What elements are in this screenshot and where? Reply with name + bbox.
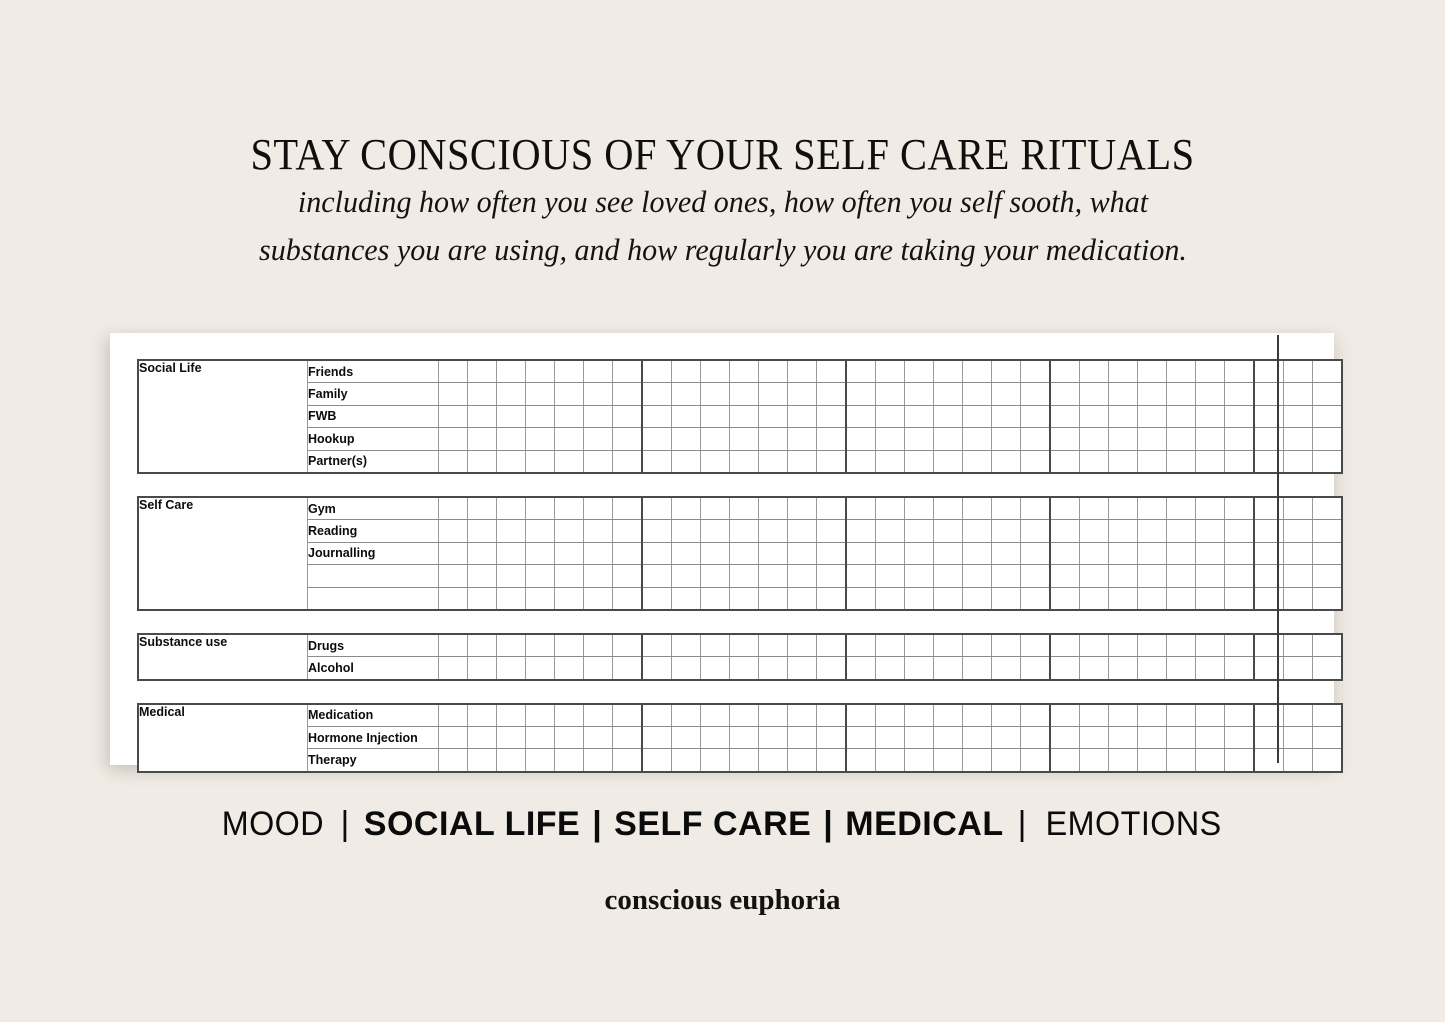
tracker-checkbox-cell[interactable]: [1050, 565, 1080, 587]
tracker-checkbox-cell[interactable]: [1080, 587, 1109, 610]
tracker-checkbox-cell[interactable]: [672, 383, 701, 405]
tracker-checkbox-cell[interactable]: [1196, 749, 1225, 772]
item-label-blank[interactable]: [308, 587, 439, 610]
tracker-checkbox-cell[interactable]: [788, 428, 817, 450]
tracker-checkbox-cell[interactable]: [1196, 657, 1225, 680]
tracker-checkbox-cell[interactable]: [730, 497, 759, 520]
tracker-checkbox-cell[interactable]: [613, 520, 643, 542]
tracker-checkbox-cell[interactable]: [1021, 634, 1051, 657]
tracker-checkbox-cell[interactable]: [1225, 727, 1255, 749]
tracker-checkbox-cell[interactable]: [1109, 657, 1138, 680]
tracker-checkbox-cell[interactable]: [439, 497, 468, 520]
tracker-checkbox-cell[interactable]: [701, 428, 730, 450]
tracker-checkbox-cell[interactable]: [1138, 405, 1167, 427]
tracker-checkbox-cell[interactable]: [963, 405, 992, 427]
tracker-checkbox-cell[interactable]: [846, 565, 876, 587]
tracker-checkbox-cell[interactable]: [759, 634, 788, 657]
tracker-checkbox-cell[interactable]: [876, 657, 905, 680]
tracker-checkbox-cell[interactable]: [642, 704, 672, 727]
tracker-checkbox-cell[interactable]: [992, 565, 1021, 587]
tracker-checkbox-cell[interactable]: [613, 565, 643, 587]
tracker-checkbox-cell[interactable]: [934, 428, 963, 450]
tracker-checkbox-cell[interactable]: [905, 634, 934, 657]
tracker-checkbox-cell[interactable]: [759, 587, 788, 610]
tracker-checkbox-cell[interactable]: [934, 727, 963, 749]
footer-nav-item-medical[interactable]: MEDICAL: [845, 805, 1003, 843]
tracker-checkbox-cell[interactable]: [439, 634, 468, 657]
tracker-checkbox-cell[interactable]: [788, 360, 817, 383]
tracker-checkbox-cell[interactable]: [1167, 565, 1196, 587]
tracker-checkbox-cell[interactable]: [934, 360, 963, 383]
tracker-checkbox-cell[interactable]: [876, 727, 905, 749]
table-row[interactable]: Hookup: [138, 428, 1342, 450]
tracker-checkbox-cell[interactable]: [1284, 383, 1313, 405]
tracker-checkbox-cell[interactable]: [730, 520, 759, 542]
tracker-checkbox-cell[interactable]: [730, 587, 759, 610]
tracker-checkbox-cell[interactable]: [1313, 428, 1343, 450]
tracker-checkbox-cell[interactable]: [701, 520, 730, 542]
tracker-checkbox-cell[interactable]: [817, 405, 847, 427]
tracker-checkbox-cell[interactable]: [1050, 383, 1080, 405]
tracker-checkbox-cell[interactable]: [1225, 405, 1255, 427]
tracker-checkbox-cell[interactable]: [1109, 727, 1138, 749]
tracker-checkbox-cell[interactable]: [1080, 383, 1109, 405]
tracker-checkbox-cell[interactable]: [1138, 428, 1167, 450]
tracker-checkbox-cell[interactable]: [555, 704, 584, 727]
tracker-section-self-care[interactable]: Self CareGymReadingJournalling: [137, 496, 1343, 611]
tracker-checkbox-cell[interactable]: [1080, 405, 1109, 427]
tracker-checkbox-cell[interactable]: [672, 587, 701, 610]
tracker-checkbox-cell[interactable]: [584, 360, 613, 383]
tracker-checkbox-cell[interactable]: [876, 405, 905, 427]
tracker-checkbox-cell[interactable]: [701, 587, 730, 610]
tracker-checkbox-cell[interactable]: [1138, 704, 1167, 727]
tracker-checkbox-cell[interactable]: [963, 634, 992, 657]
tracker-checkbox-cell[interactable]: [1313, 542, 1343, 564]
tracker-checkbox-cell[interactable]: [1167, 383, 1196, 405]
tracker-checkbox-cell[interactable]: [555, 542, 584, 564]
tracker-checkbox-cell[interactable]: [497, 450, 526, 473]
tracker-checkbox-cell[interactable]: [526, 450, 555, 473]
tracker-checkbox-cell[interactable]: [468, 360, 497, 383]
tracker-checkbox-cell[interactable]: [759, 727, 788, 749]
tracker-checkbox-cell[interactable]: [730, 450, 759, 473]
tracker-checkbox-cell[interactable]: [1196, 704, 1225, 727]
tracker-checkbox-cell[interactable]: [468, 657, 497, 680]
tracker-checkbox-cell[interactable]: [963, 727, 992, 749]
tracker-checkbox-cell[interactable]: [526, 727, 555, 749]
tracker-checkbox-cell[interactable]: [1021, 587, 1051, 610]
tracker-checkbox-cell[interactable]: [1225, 704, 1255, 727]
tracker-checkbox-cell[interactable]: [1313, 634, 1343, 657]
tracker-checkbox-cell[interactable]: [1109, 542, 1138, 564]
tracker-checkbox-cell[interactable]: [642, 428, 672, 450]
tracker-checkbox-cell[interactable]: [1138, 450, 1167, 473]
tracker-checkbox-cell[interactable]: [613, 657, 643, 680]
tracker-checkbox-cell[interactable]: [672, 727, 701, 749]
tracker-checkbox-cell[interactable]: [613, 587, 643, 610]
item-label[interactable]: Friends: [308, 360, 439, 383]
tracker-checkbox-cell[interactable]: [905, 383, 934, 405]
tracker-checkbox-cell[interactable]: [1021, 520, 1051, 542]
tracker-checkbox-cell[interactable]: [992, 727, 1021, 749]
tracker-checkbox-cell[interactable]: [1284, 704, 1313, 727]
tracker-checkbox-cell[interactable]: [1196, 428, 1225, 450]
tracker-checkbox-cell[interactable]: [905, 520, 934, 542]
tracker-checkbox-cell[interactable]: [672, 565, 701, 587]
tracker-checkbox-cell[interactable]: [992, 405, 1021, 427]
footer-nav[interactable]: MOOD | SOCIAL LIFE | SELF CARE | MEDICAL…: [0, 805, 1445, 844]
tracker-checkbox-cell[interactable]: [846, 428, 876, 450]
tracker-checkbox-cell[interactable]: [642, 450, 672, 473]
tracker-checkbox-cell[interactable]: [1284, 587, 1313, 610]
tracker-checkbox-cell[interactable]: [613, 634, 643, 657]
tracker-checkbox-cell[interactable]: [555, 383, 584, 405]
tracker-checkbox-cell[interactable]: [672, 542, 701, 564]
tracker-checkbox-cell[interactable]: [701, 634, 730, 657]
tracker-checkbox-cell[interactable]: [701, 727, 730, 749]
item-label[interactable]: Reading: [308, 520, 439, 542]
tracker-checkbox-cell[interactable]: [672, 450, 701, 473]
tracker-checkbox-cell[interactable]: [788, 542, 817, 564]
tracker-checkbox-cell[interactable]: [934, 587, 963, 610]
tracker-checkbox-cell[interactable]: [817, 587, 847, 610]
tracker-checkbox-cell[interactable]: [584, 749, 613, 772]
tracker-checkbox-cell[interactable]: [759, 428, 788, 450]
tracker-checkbox-cell[interactable]: [1225, 520, 1255, 542]
tracker-checkbox-cell[interactable]: [468, 383, 497, 405]
footer-nav-item-emotions[interactable]: EMOTIONS: [1046, 805, 1222, 844]
tracker-checkbox-cell[interactable]: [876, 520, 905, 542]
tracker-checkbox-cell[interactable]: [788, 565, 817, 587]
tracker-checkbox-cell[interactable]: [1021, 704, 1051, 727]
tracker-checkbox-cell[interactable]: [992, 497, 1021, 520]
tracker-checkbox-cell[interactable]: [817, 565, 847, 587]
tracker-checkbox-cell[interactable]: [1225, 749, 1255, 772]
tracker-checkbox-cell[interactable]: [701, 405, 730, 427]
tracker-checkbox-cell[interactable]: [1225, 542, 1255, 564]
tracker-checkbox-cell[interactable]: [1196, 450, 1225, 473]
tracker-checkbox-cell[interactable]: [1021, 360, 1051, 383]
tracker-checkbox-cell[interactable]: [555, 657, 584, 680]
tracker-checkbox-cell[interactable]: [817, 727, 847, 749]
tracker-checkbox-cell[interactable]: [1138, 383, 1167, 405]
tracker-checkbox-cell[interactable]: [526, 405, 555, 427]
tracker-checkbox-cell[interactable]: [584, 565, 613, 587]
tracker-checkbox-cell[interactable]: [584, 727, 613, 749]
table-row[interactable]: FWB: [138, 405, 1342, 427]
tracker-checkbox-cell[interactable]: [1225, 634, 1255, 657]
tracker-checkbox-cell[interactable]: [934, 383, 963, 405]
footer-nav-item-self-care[interactable]: SELF CARE: [614, 805, 811, 843]
tracker-checkbox-cell[interactable]: [642, 657, 672, 680]
tracker-checkbox-cell[interactable]: [1080, 749, 1109, 772]
tracker-checkbox-cell[interactable]: [1225, 657, 1255, 680]
table-row[interactable]: Therapy: [138, 749, 1342, 772]
tracker-checkbox-cell[interactable]: [1021, 428, 1051, 450]
tracker-checkbox-cell[interactable]: [555, 405, 584, 427]
tracker-checkbox-cell[interactable]: [1138, 497, 1167, 520]
tracker-checkbox-cell[interactable]: [992, 704, 1021, 727]
tracker-checkbox-cell[interactable]: [905, 405, 934, 427]
item-label[interactable]: Hormone Injection: [308, 727, 439, 749]
tracker-checkbox-cell[interactable]: [846, 727, 876, 749]
tracker-checkbox-cell[interactable]: [963, 497, 992, 520]
tracker-checkbox-cell[interactable]: [817, 749, 847, 772]
tracker-checkbox-cell[interactable]: [497, 727, 526, 749]
tracker-checkbox-cell[interactable]: [759, 749, 788, 772]
tracker-checkbox-cell[interactable]: [1109, 749, 1138, 772]
tracker-checkbox-cell[interactable]: [1196, 634, 1225, 657]
tracker-checkbox-cell[interactable]: [468, 497, 497, 520]
tracker-checkbox-cell[interactable]: [526, 360, 555, 383]
tracker-checkbox-cell[interactable]: [1254, 383, 1284, 405]
tracker-checkbox-cell[interactable]: [1196, 497, 1225, 520]
tracker-checkbox-cell[interactable]: [876, 749, 905, 772]
tracker-checkbox-cell[interactable]: [701, 749, 730, 772]
tracker-checkbox-cell[interactable]: [788, 383, 817, 405]
tracker-checkbox-cell[interactable]: [1167, 657, 1196, 680]
tracker-checkbox-cell[interactable]: [1196, 383, 1225, 405]
tracker-checkbox-cell[interactable]: [1196, 587, 1225, 610]
item-label[interactable]: Therapy: [308, 749, 439, 772]
tracker-checkbox-cell[interactable]: [759, 520, 788, 542]
tracker-checkbox-cell[interactable]: [876, 428, 905, 450]
tracker-checkbox-cell[interactable]: [1050, 428, 1080, 450]
item-label[interactable]: Medication: [308, 704, 439, 727]
tracker-checkbox-cell[interactable]: [876, 360, 905, 383]
tracker-checkbox-cell[interactable]: [759, 383, 788, 405]
tracker-checkbox-cell[interactable]: [1196, 727, 1225, 749]
tracker-checkbox-cell[interactable]: [1080, 727, 1109, 749]
tracker-checkbox-cell[interactable]: [1167, 360, 1196, 383]
tracker-checkbox-cell[interactable]: [788, 634, 817, 657]
tracker-checkbox-cell[interactable]: [1254, 749, 1284, 772]
tracker-checkbox-cell[interactable]: [672, 428, 701, 450]
tracker-checkbox-cell[interactable]: [1109, 360, 1138, 383]
tracker-checkbox-cell[interactable]: [992, 520, 1021, 542]
tracker-checkbox-cell[interactable]: [439, 727, 468, 749]
tracker-checkbox-cell[interactable]: [497, 405, 526, 427]
tracker-checkbox-cell[interactable]: [1284, 497, 1313, 520]
tracker-checkbox-cell[interactable]: [555, 634, 584, 657]
tracker-checkbox-cell[interactable]: [788, 405, 817, 427]
tracker-checkbox-cell[interactable]: [905, 542, 934, 564]
tracker-checkbox-cell[interactable]: [642, 749, 672, 772]
tracker-checkbox-cell[interactable]: [439, 657, 468, 680]
tracker-checkbox-cell[interactable]: [1167, 587, 1196, 610]
tracker-checkbox-cell[interactable]: [846, 704, 876, 727]
tracker-checkbox-cell[interactable]: [1284, 542, 1313, 564]
tracker-checkbox-cell[interactable]: [613, 360, 643, 383]
tracker-checkbox-cell[interactable]: [1021, 657, 1051, 680]
table-row[interactable]: MedicalMedication: [138, 704, 1342, 727]
tracker-checkbox-cell[interactable]: [1254, 727, 1284, 749]
tracker-checkbox-cell[interactable]: [672, 749, 701, 772]
tracker-checkbox-cell[interactable]: [934, 657, 963, 680]
tracker-checkbox-cell[interactable]: [468, 565, 497, 587]
tracker-checkbox-cell[interactable]: [1050, 657, 1080, 680]
tracker-checkbox-cell[interactable]: [876, 634, 905, 657]
tracker-checkbox-cell[interactable]: [555, 428, 584, 450]
tracker-checkbox-cell[interactable]: [1313, 704, 1343, 727]
tracker-checkbox-cell[interactable]: [526, 520, 555, 542]
tracker-checkbox-cell[interactable]: [1225, 565, 1255, 587]
tracker-checkbox-cell[interactable]: [584, 634, 613, 657]
tracker-checkbox-cell[interactable]: [1138, 727, 1167, 749]
tracker-checkbox-cell[interactable]: [555, 587, 584, 610]
tracker-checkbox-cell[interactable]: [730, 727, 759, 749]
tracker-checkbox-cell[interactable]: [1254, 542, 1284, 564]
tracker-checkbox-cell[interactable]: [1313, 383, 1343, 405]
tracker-checkbox-cell[interactable]: [1109, 428, 1138, 450]
tracker-checkbox-cell[interactable]: [992, 587, 1021, 610]
tracker-checkbox-cell[interactable]: [497, 542, 526, 564]
tracker-checkbox-cell[interactable]: [1313, 450, 1343, 473]
tracker-checkbox-cell[interactable]: [759, 360, 788, 383]
tracker-checkbox-cell[interactable]: [846, 542, 876, 564]
tracker-checkbox-cell[interactable]: [642, 542, 672, 564]
tracker-checkbox-cell[interactable]: [759, 405, 788, 427]
tracker-checkbox-cell[interactable]: [1284, 360, 1313, 383]
tracker-checkbox-cell[interactable]: [1254, 497, 1284, 520]
tracker-checkbox-cell[interactable]: [963, 587, 992, 610]
tracker-checkbox-cell[interactable]: [642, 520, 672, 542]
tracker-checkbox-cell[interactable]: [613, 428, 643, 450]
tracker-checkbox-cell[interactable]: [846, 360, 876, 383]
tracker-checkbox-cell[interactable]: [1050, 634, 1080, 657]
tracker-checkbox-cell[interactable]: [992, 657, 1021, 680]
tracker-checkbox-cell[interactable]: [526, 704, 555, 727]
tracker-checkbox-cell[interactable]: [992, 634, 1021, 657]
table-row[interactable]: Social LifeFriends: [138, 360, 1342, 383]
tracker-checkbox-cell[interactable]: [934, 704, 963, 727]
tracker-checkbox-cell[interactable]: [584, 657, 613, 680]
tracker-checkbox-cell[interactable]: [1080, 497, 1109, 520]
tracker-checkbox-cell[interactable]: [526, 749, 555, 772]
tracker-checkbox-cell[interactable]: [701, 450, 730, 473]
tracker-section-substance-use[interactable]: Substance useDrugsAlcohol: [137, 633, 1343, 681]
tracker-checkbox-cell[interactable]: [1080, 450, 1109, 473]
tracker-checkbox-cell[interactable]: [701, 565, 730, 587]
tracker-checkbox-cell[interactable]: [1196, 360, 1225, 383]
tracker-checkbox-cell[interactable]: [1196, 405, 1225, 427]
tracker-checkbox-cell[interactable]: [584, 520, 613, 542]
tracker-checkbox-cell[interactable]: [1138, 587, 1167, 610]
tracker-checkbox-cell[interactable]: [730, 542, 759, 564]
tracker-checkbox-cell[interactable]: [963, 520, 992, 542]
tracker-checkbox-cell[interactable]: [1080, 704, 1109, 727]
item-label-blank[interactable]: [308, 565, 439, 587]
tracker-checkbox-cell[interactable]: [1021, 405, 1051, 427]
tracker-checkbox-cell[interactable]: [1138, 360, 1167, 383]
tracker-checkbox-cell[interactable]: [584, 497, 613, 520]
tracker-checkbox-cell[interactable]: [817, 360, 847, 383]
tracker-checkbox-cell[interactable]: [497, 704, 526, 727]
tracker-checkbox-cell[interactable]: [905, 565, 934, 587]
tracker-checkbox-cell[interactable]: [526, 542, 555, 564]
tracker-checkbox-cell[interactable]: [555, 749, 584, 772]
tracker-checkbox-cell[interactable]: [1254, 587, 1284, 610]
tracker-checkbox-cell[interactable]: [1225, 497, 1255, 520]
tracker-checkbox-cell[interactable]: [439, 360, 468, 383]
tracker-checkbox-cell[interactable]: [613, 727, 643, 749]
tracker-checkbox-cell[interactable]: [846, 383, 876, 405]
tracker-checkbox-cell[interactable]: [613, 383, 643, 405]
tracker-checkbox-cell[interactable]: [1021, 383, 1051, 405]
tracker-checkbox-cell[interactable]: [992, 428, 1021, 450]
tracker-checkbox-cell[interactable]: [1109, 520, 1138, 542]
tracker-checkbox-cell[interactable]: [1167, 749, 1196, 772]
tracker-checkbox-cell[interactable]: [555, 450, 584, 473]
tracker-checkbox-cell[interactable]: [468, 405, 497, 427]
tracker-checkbox-cell[interactable]: [1109, 405, 1138, 427]
tracker-checkbox-cell[interactable]: [846, 634, 876, 657]
tracker-checkbox-cell[interactable]: [1167, 704, 1196, 727]
tracker-checkbox-cell[interactable]: [876, 450, 905, 473]
item-label[interactable]: Alcohol: [308, 657, 439, 680]
tracker-checkbox-cell[interactable]: [788, 497, 817, 520]
tracker-checkbox-cell[interactable]: [555, 565, 584, 587]
tracker-checkbox-cell[interactable]: [468, 634, 497, 657]
tracker-checkbox-cell[interactable]: [817, 704, 847, 727]
tracker-checkbox-cell[interactable]: [1313, 360, 1343, 383]
item-label[interactable]: FWB: [308, 405, 439, 427]
tracker-checkbox-cell[interactable]: [846, 657, 876, 680]
tracker-checkbox-cell[interactable]: [555, 360, 584, 383]
tracker-checkbox-cell[interactable]: [584, 542, 613, 564]
tracker-checkbox-cell[interactable]: [672, 634, 701, 657]
tracker-checkbox-cell[interactable]: [1167, 428, 1196, 450]
tracker-checkbox-cell[interactable]: [759, 450, 788, 473]
footer-nav-item-social-life[interactable]: SOCIAL LIFE: [364, 805, 580, 843]
tracker-checkbox-cell[interactable]: [1167, 405, 1196, 427]
tracker-checkbox-cell[interactable]: [497, 497, 526, 520]
tracker-checkbox-cell[interactable]: [1021, 450, 1051, 473]
tracker-checkbox-cell[interactable]: [1254, 428, 1284, 450]
tracker-checkbox-cell[interactable]: [963, 565, 992, 587]
table-row[interactable]: [138, 565, 1342, 587]
tracker-checkbox-cell[interactable]: [701, 383, 730, 405]
tracker-checkbox-cell[interactable]: [992, 749, 1021, 772]
tracker-checkbox-cell[interactable]: [730, 657, 759, 680]
tracker-checkbox-cell[interactable]: [526, 657, 555, 680]
tracker-checkbox-cell[interactable]: [730, 383, 759, 405]
tracker-checkbox-cell[interactable]: [1109, 383, 1138, 405]
tracker-checkbox-cell[interactable]: [439, 450, 468, 473]
tracker-checkbox-cell[interactable]: [497, 587, 526, 610]
tracker-checkbox-cell[interactable]: [1225, 383, 1255, 405]
tracker-checkbox-cell[interactable]: [439, 704, 468, 727]
tracker-checkbox-cell[interactable]: [439, 520, 468, 542]
tracker-checkbox-cell[interactable]: [497, 383, 526, 405]
tracker-checkbox-cell[interactable]: [642, 360, 672, 383]
tracker-checkbox-cell[interactable]: [1254, 360, 1284, 383]
tracker-checkbox-cell[interactable]: [642, 565, 672, 587]
tracker-checkbox-cell[interactable]: [613, 704, 643, 727]
tracker-checkbox-cell[interactable]: [497, 749, 526, 772]
tracker-checkbox-cell[interactable]: [963, 383, 992, 405]
tracker-checkbox-cell[interactable]: [1284, 520, 1313, 542]
tracker-checkbox-cell[interactable]: [1167, 727, 1196, 749]
tracker-checkbox-cell[interactable]: [934, 634, 963, 657]
tracker-checkbox-cell[interactable]: [1021, 749, 1051, 772]
tracker-checkbox-cell[interactable]: [613, 749, 643, 772]
tracker-checkbox-cell[interactable]: [1050, 450, 1080, 473]
tracker-checkbox-cell[interactable]: [1254, 450, 1284, 473]
tracker-checkbox-cell[interactable]: [468, 542, 497, 564]
tracker-checkbox-cell[interactable]: [672, 497, 701, 520]
